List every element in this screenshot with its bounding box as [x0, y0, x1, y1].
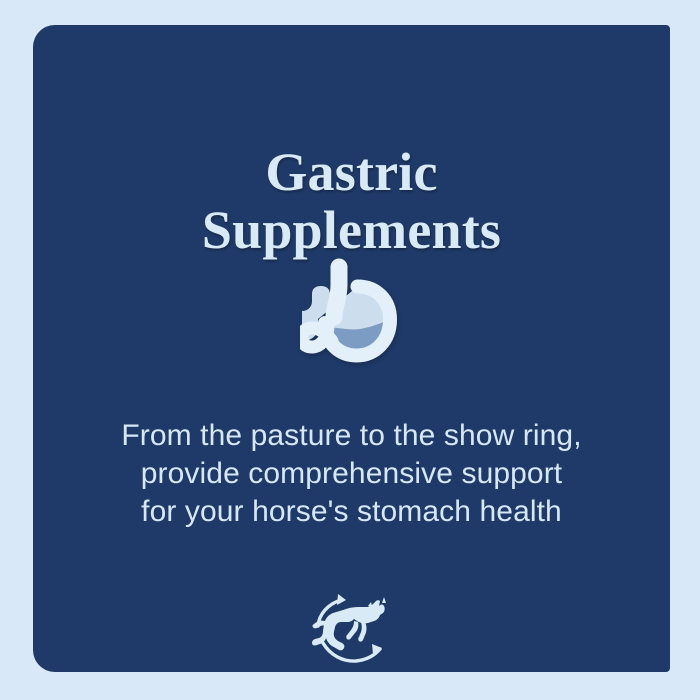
- promo-card: Gastric Supplements: [33, 25, 670, 672]
- tagline-line-2: provide comprehensive support: [33, 455, 670, 493]
- tagline-line-1: From the pasture to the show ring,: [33, 417, 670, 455]
- brand-logo-container: [33, 587, 670, 672]
- promo-banner: Gastric Supplements: [0, 0, 700, 700]
- tagline: From the pasture to the show ring, provi…: [33, 417, 670, 531]
- page-title-line-1: Gastric: [33, 145, 670, 201]
- page-title: Gastric Supplements: [33, 145, 670, 258]
- stomach-icon: [300, 255, 404, 373]
- galloping-horse-logo: [310, 591, 394, 669]
- page-title-line-2: Supplements: [33, 203, 670, 259]
- stomach-icon-container: [33, 253, 670, 375]
- tagline-line-3: for your horse's stomach health: [33, 493, 670, 531]
